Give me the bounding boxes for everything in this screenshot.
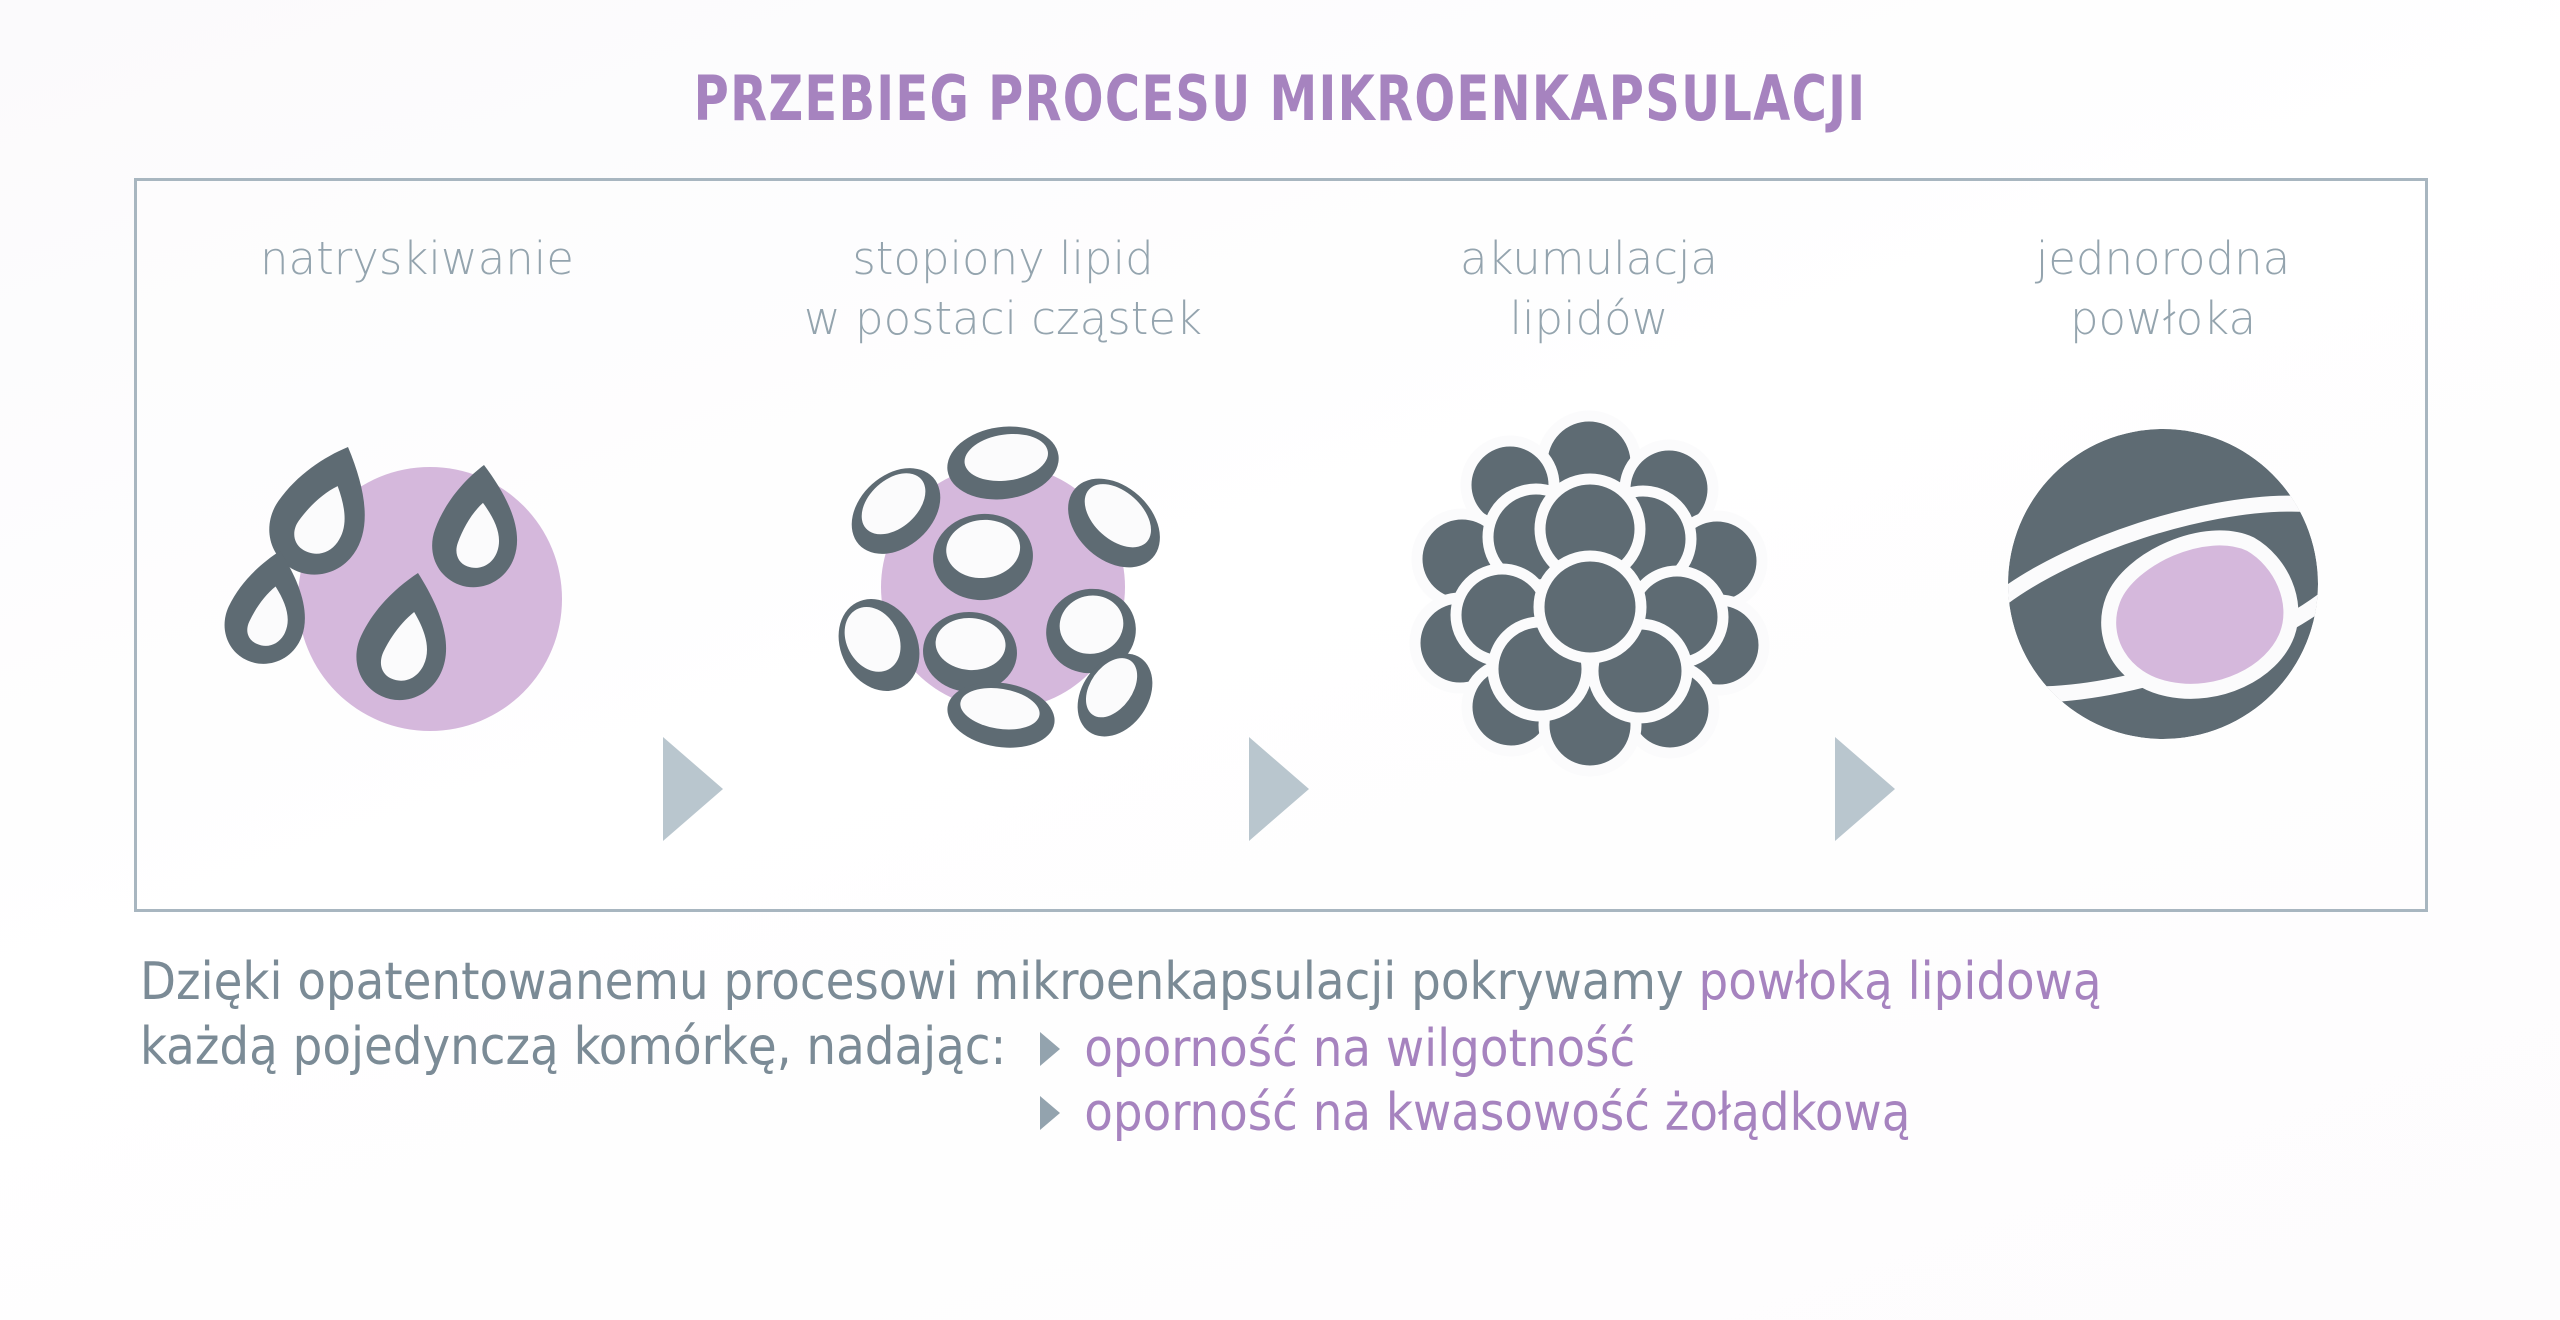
spray-droplets-on-sphere-icon: [252, 419, 582, 749]
process-stage-3: akumulacja lipidów: [1309, 181, 1869, 915]
benefit-list-item: oporność na wilgotność: [1040, 1017, 1910, 1081]
caption-line-2-row: każdą pojedynczą komórkę, nadając: oporn…: [140, 1017, 2440, 1145]
page-title: PRZEBIEG PROCESU MIKROENKAPSULACJI: [179, 62, 2381, 135]
process-stage-4: jednorodna powłoka: [1895, 181, 2431, 915]
process-diagram-frame: natryskiwanie: [134, 178, 2428, 912]
lipid-cluster-berry-icon: [1424, 419, 1754, 749]
benefit-label: oporność na kwasowość żołądkową: [1084, 1083, 1910, 1144]
caption-line-2: każdą pojedynczą komórkę, nadając:: [140, 1017, 1040, 1078]
uniform-coated-sphere-icon: [1998, 419, 2328, 749]
caption-line-1-accent: powłoką lipidową: [1699, 952, 2102, 1012]
benefit-list-item: oporność na kwasowość żołądkową: [1040, 1081, 1910, 1145]
triangle-bullet-icon: [1040, 1032, 1060, 1066]
process-stage-2-label: stopiony lipid w postaci cząstek: [723, 229, 1283, 349]
benefit-label: oporność na wilgotność: [1084, 1019, 1635, 1080]
process-stage-3-label: akumulacja lipidów: [1309, 229, 1869, 349]
process-stage-2: stopiony lipid w postaci cząstek: [723, 181, 1283, 915]
flow-arrow-2: [1249, 737, 1309, 841]
process-stage-1: natryskiwanie: [137, 181, 697, 915]
benefit-list: oporność na wilgotność oporność na kwaso…: [1040, 1017, 1910, 1145]
flow-arrow-3: [1835, 737, 1895, 841]
caption-line-1-plain: Dzięki opatentowanemu procesowi mikroenk…: [140, 952, 1699, 1012]
infographic-root: PRZEBIEG PROCESU MIKROENKAPSULACJI natry…: [0, 0, 2560, 1320]
process-stage-4-label: jednorodna powłoka: [1895, 229, 2431, 349]
triangle-bullet-icon: [1040, 1096, 1060, 1130]
flow-arrow-1: [663, 737, 723, 841]
caption-line-1: Dzięki opatentowanemu procesowi mikroenk…: [140, 952, 2440, 1013]
lipid-particles-sphere-icon: [838, 419, 1168, 749]
caption-block: Dzięki opatentowanemu procesowi mikroenk…: [140, 952, 2440, 1145]
process-stage-1-label: natryskiwanie: [137, 229, 697, 289]
